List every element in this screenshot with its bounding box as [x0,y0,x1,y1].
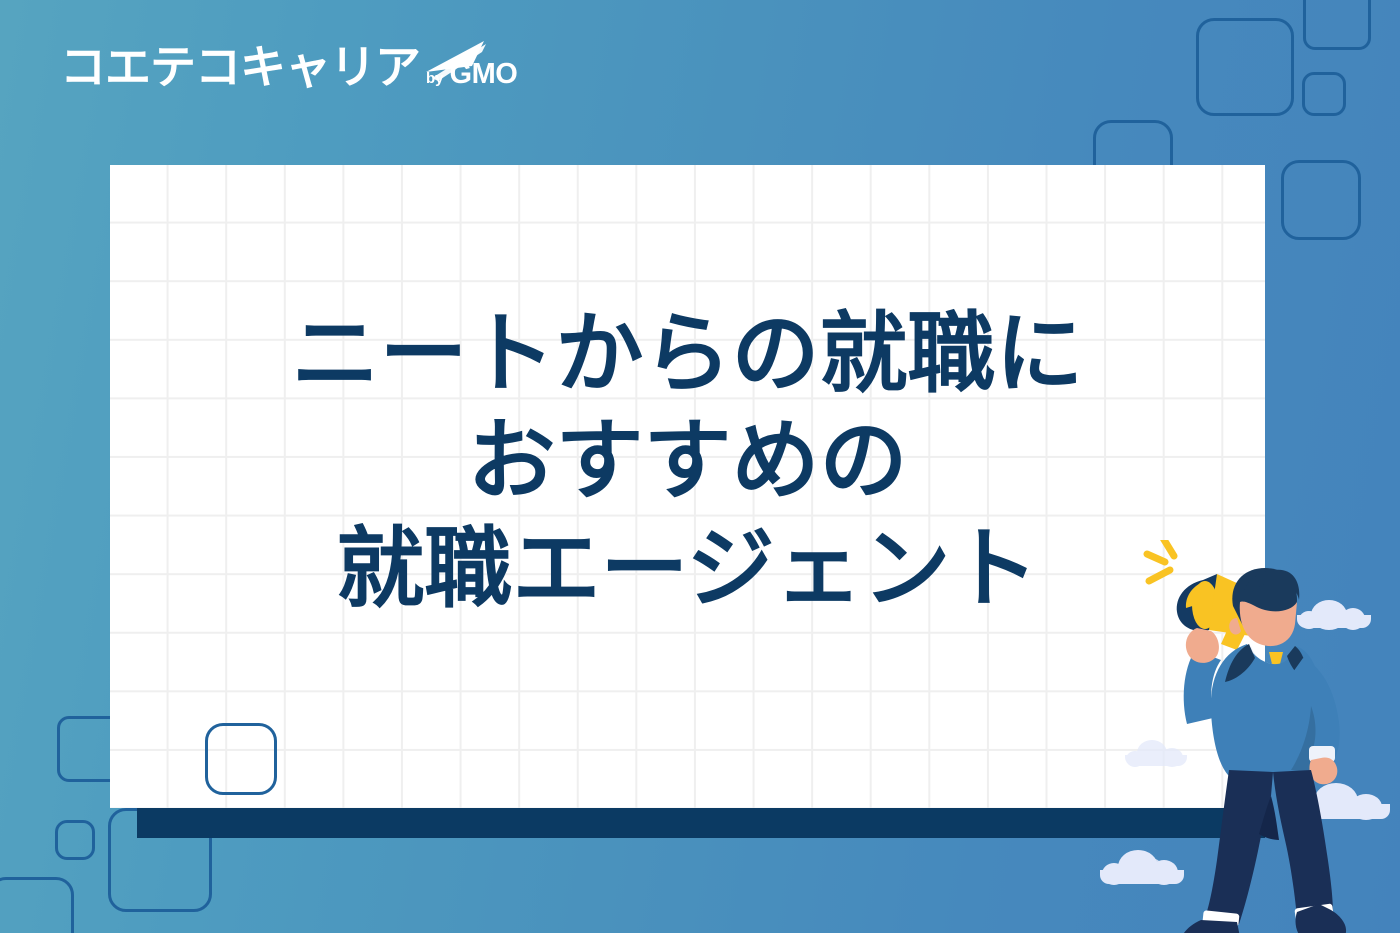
decor-rounded-square-on-card [205,723,277,795]
page-title-line-3: 就職エージェント [110,515,1265,622]
hero-banner: コエテコキャリア by GMO ニートからの就職に おすすめの 就職エージェント [0,0,1400,933]
decor-rounded-square [1281,160,1361,240]
businessman-with-megaphone-illustration [1125,540,1400,933]
decor-rounded-square [1303,0,1371,50]
brand-logo-jp-text: コエテコキャリア [60,44,420,90]
decor-rounded-square [1196,18,1294,116]
page-title: ニートからの就職に おすすめの 就職エージェント [110,300,1265,622]
decor-rounded-square [1302,72,1346,116]
page-title-line-1: ニートからの就職に [110,300,1265,407]
page-title-line-2: おすすめの [110,407,1265,514]
hand-grip [1186,628,1219,663]
megaphone-sound-lines [1147,540,1174,581]
fist [1309,757,1337,784]
decor-rounded-square [55,820,95,860]
trousers [1205,770,1333,924]
swoosh-arrow-icon [422,38,492,84]
brand-logo[interactable]: コエテコキャリア by GMO [60,44,517,90]
decor-rounded-square [0,877,74,933]
